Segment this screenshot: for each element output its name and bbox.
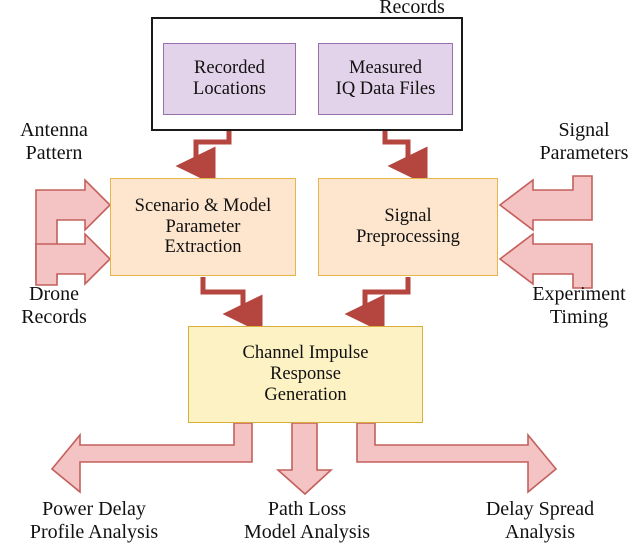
node-channel-impulse-response-generation[interactable]: Channel Impulse Response Generation	[188, 326, 423, 423]
input-arrow-experiment-timing	[500, 234, 592, 288]
node-recorded-locations-label: Recorded Locations	[193, 58, 266, 99]
node-scenario-model-parameter-extraction[interactable]: Scenario & Model Parameter Extraction	[110, 178, 296, 276]
node-signal-preprocessing-label: Signal Preprocessing	[356, 206, 460, 247]
label-signal-parameters: Signal Parameters	[526, 119, 640, 165]
label-experiment-timing: Experiment Timing	[518, 283, 640, 329]
input-arrow-antenna-pattern	[36, 180, 110, 279]
node-channel-impulse-response-generation-label: Channel Impulse Response Generation	[243, 343, 369, 405]
node-recorded-locations[interactable]: Recorded Locations	[163, 43, 296, 115]
node-signal-preprocessing[interactable]: Signal Preprocessing	[318, 178, 498, 276]
label-drone-records: Drone Records	[0, 283, 110, 329]
label-path-loss-model-analysis: Path Loss Model Analysis	[212, 498, 402, 544]
input-arrow-drone-records	[36, 234, 110, 285]
output-arrow-path-loss-model	[278, 423, 331, 494]
label-power-delay-profile-analysis: Power Delay Profile Analysis	[0, 498, 194, 544]
records-group-label: Records	[352, 0, 472, 19]
output-arrow-delay-spread	[357, 423, 556, 492]
label-antenna-pattern: Antenna Pattern	[0, 119, 110, 165]
flowchart-diagram: Records Recorded Locations Measured IQ D…	[0, 0, 640, 556]
node-measured-iq-data-files-label: Measured IQ Data Files	[336, 58, 436, 99]
input-arrow-signal-parameters	[500, 176, 592, 230]
node-measured-iq-data-files[interactable]: Measured IQ Data Files	[318, 43, 453, 115]
connector-signal-preprocessing-to-cir	[365, 277, 408, 314]
label-delay-spread-analysis: Delay Spread Analysis	[442, 498, 638, 544]
connector-scenario-to-cir	[203, 277, 243, 314]
output-arrow-power-delay-profile	[52, 423, 252, 492]
node-scenario-model-parameter-extraction-label: Scenario & Model Parameter Extraction	[135, 196, 272, 258]
